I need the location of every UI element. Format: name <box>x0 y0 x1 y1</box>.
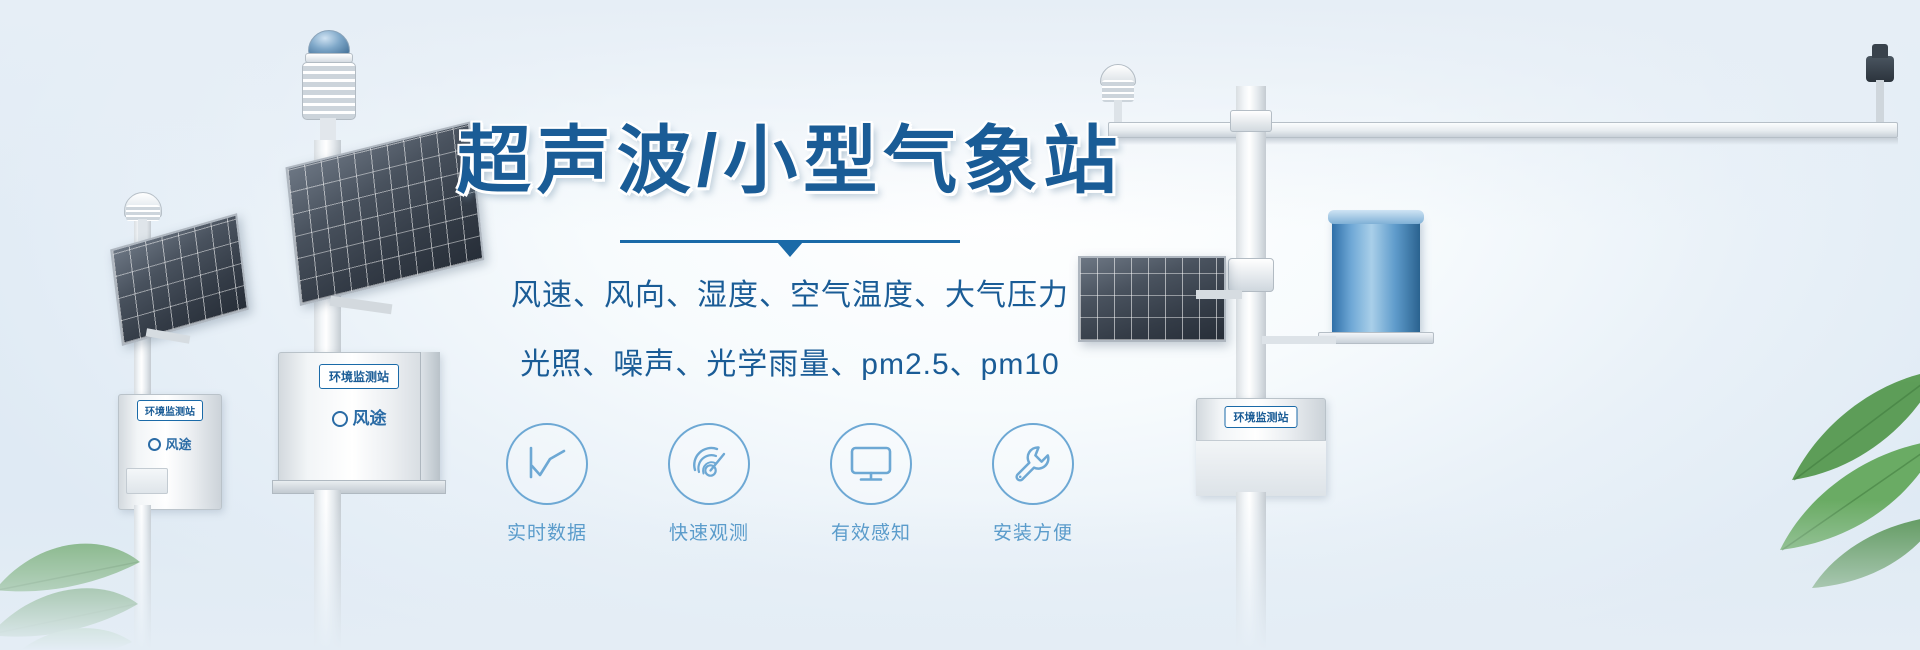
wrench-tool-icon <box>1011 442 1055 486</box>
feature-label-3: 有效感知 <box>809 518 933 545</box>
mast-pole-right-lower <box>1236 492 1266 650</box>
mast-collar-mid-right <box>1228 258 1274 292</box>
feature-item-easy-installation[interactable]: 安装方便 <box>971 423 1095 545</box>
product-banner: 环境监测站 风途 环境监测站 风途 <box>0 0 1920 650</box>
cabinet-brand-small: 风途 <box>118 434 222 453</box>
page-title: 超声波/小型气象站 <box>440 122 1140 200</box>
anemometer-stem <box>1876 80 1884 128</box>
cabinet-base-large <box>272 480 446 494</box>
crossarm-right <box>1108 122 1898 138</box>
feature-label-4: 安装方便 <box>971 518 1095 545</box>
monitor-screen-icon <box>848 444 894 484</box>
banner-content: 超声波/小型气象站 风速、风向、湿度、空气温度、大气压力 光照、噪声、光学雨量、… <box>440 100 1140 570</box>
subtitle-line-2: 光照、噪声、光学雨量、pm2.5、pm10 <box>440 337 1140 393</box>
cabinet-badge-large: 环境监测站 <box>319 364 399 389</box>
cabinet-door-seam-large <box>420 352 440 484</box>
brand-text-large: 风途 <box>353 409 387 428</box>
feature-label-2: 快速观测 <box>647 518 771 545</box>
leaf-bottom-left <box>0 470 200 650</box>
divider-triangle-icon <box>777 242 803 257</box>
mast-collar-upper-right <box>1230 110 1272 132</box>
solar-panel-small <box>110 213 249 346</box>
leaf-bottom-right <box>1640 330 1920 590</box>
radiation-shield-large <box>302 62 356 120</box>
feature-item-effective-sensing[interactable]: 有效感知 <box>809 423 933 545</box>
rain-gauge-rim <box>1328 210 1424 224</box>
feature-circle-3 <box>830 423 912 505</box>
anemometer-vane <box>1872 44 1888 58</box>
title-divider <box>620 236 960 254</box>
rain-gauge-bracket <box>1262 336 1336 344</box>
feature-circle-4 <box>992 423 1074 505</box>
mast-pole-large-lower <box>314 490 341 650</box>
anemometer-icon <box>1866 56 1894 82</box>
brand-text-small: 风途 <box>165 437 191 452</box>
sensor-neck-small <box>138 219 147 241</box>
crossarm-shadow <box>1108 138 1898 145</box>
cabinet-brand-large: 风途 <box>278 404 440 429</box>
feature-item-realtime-data[interactable]: 实时数据 <box>485 423 609 545</box>
feature-item-fast-observation[interactable]: 快速观测 <box>647 423 771 545</box>
solar-panel-right-arm <box>1196 290 1242 299</box>
radar-signal-icon <box>687 442 731 486</box>
feature-label-1: 实时数据 <box>485 518 609 545</box>
ultrasonic-sensor-fins <box>1102 80 1134 102</box>
cabinet-badge-right: 环境监测站 <box>1225 406 1298 428</box>
line-chart-icon <box>525 444 569 484</box>
cabinet-badge-small: 环境监测站 <box>137 400 203 421</box>
feature-circle-1 <box>506 423 588 505</box>
brand-mark-large <box>332 411 348 427</box>
subtitle-line-1: 风速、风向、湿度、空气温度、大气压力 <box>440 268 1140 324</box>
feature-circle-2 <box>668 423 750 505</box>
brand-mark-small <box>148 438 161 451</box>
feature-list: 实时数据 快速观测 <box>440 423 1140 545</box>
rain-gauge-icon <box>1332 216 1420 334</box>
cabinet-right-panel-seam <box>1196 440 1326 496</box>
